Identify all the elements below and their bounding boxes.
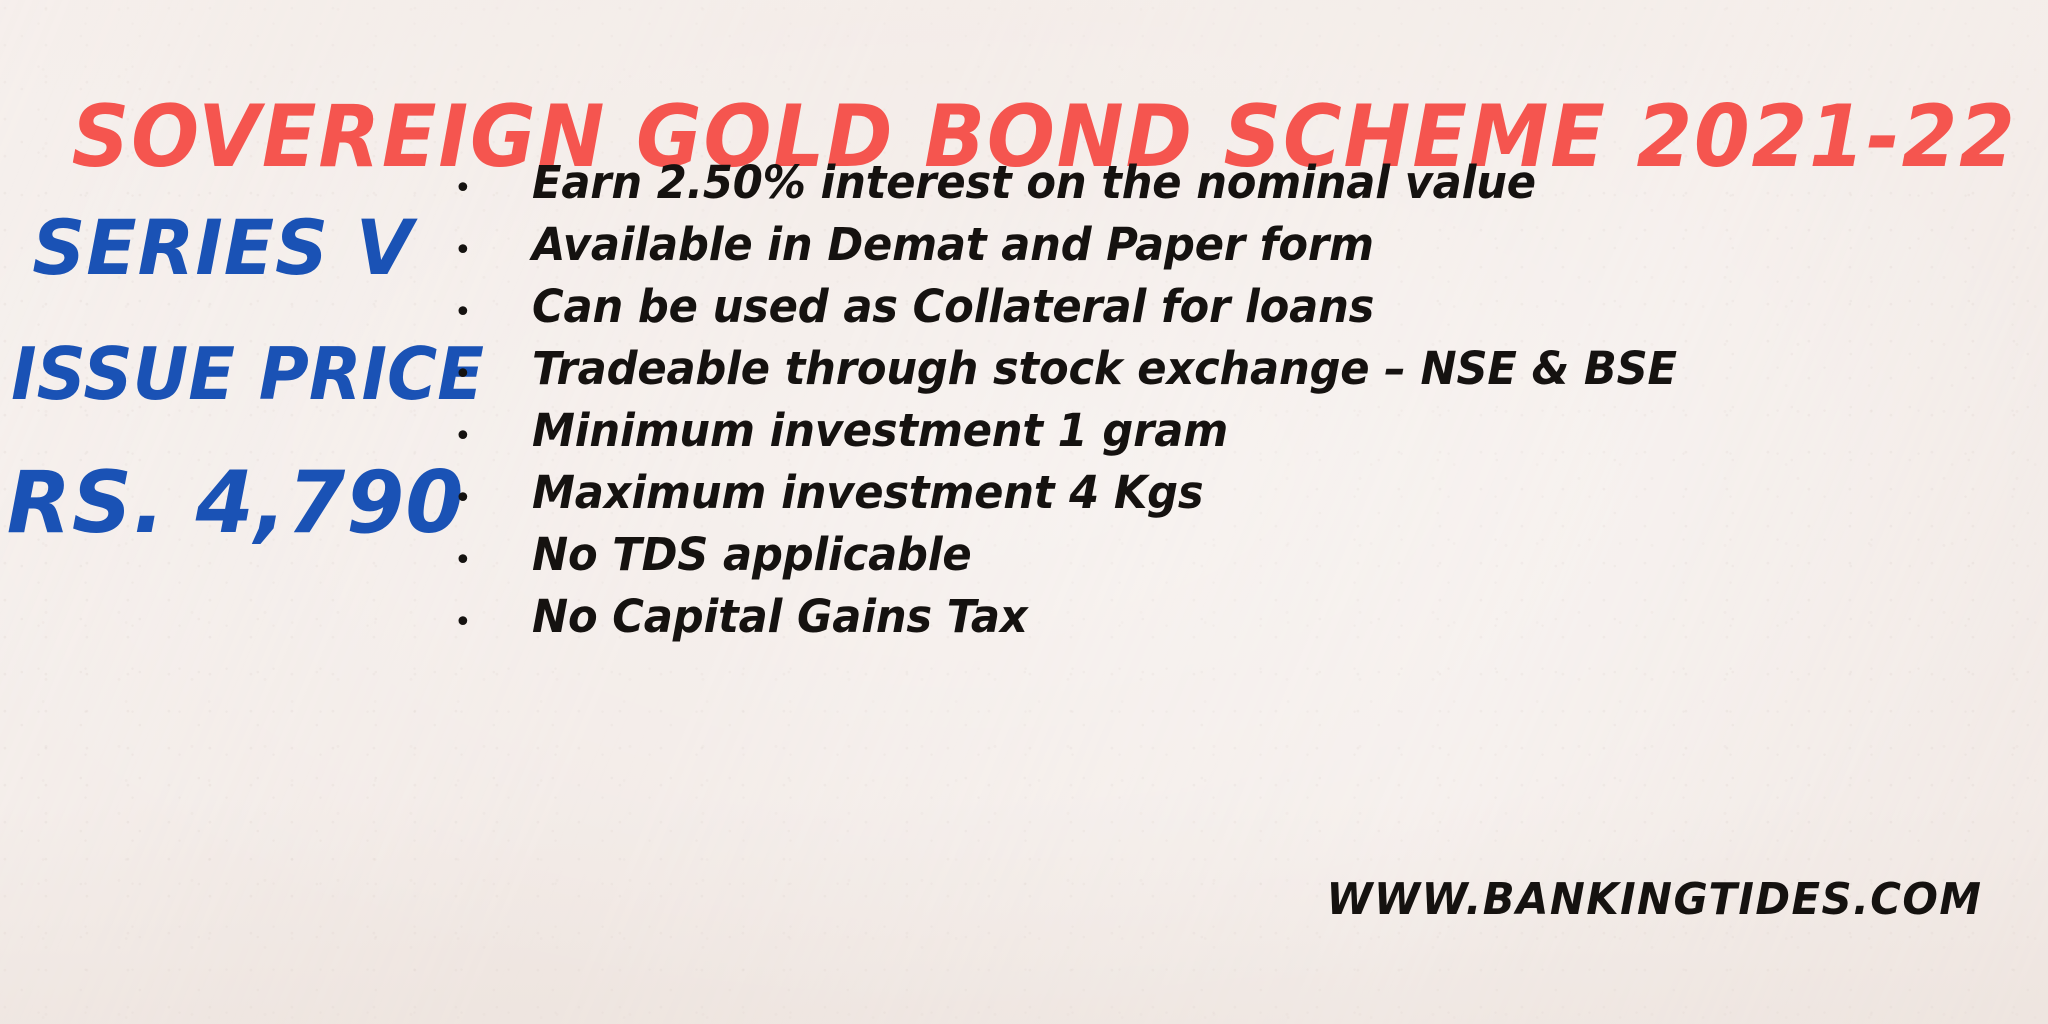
list-item: •Minimum investment 1 gram xyxy=(440,408,2040,470)
benefit-text: No TDS applicable xyxy=(532,532,1980,577)
bullet-dot-icon: • xyxy=(440,298,532,328)
bullet-dot-icon: • xyxy=(440,484,532,514)
bullet-dot-icon: • xyxy=(440,546,532,576)
issue-price-label: ISSUE PRICE xyxy=(11,338,435,410)
list-item: •Earn 2.50% interest on the nominal valu… xyxy=(440,160,2040,222)
list-item: •No TDS applicable xyxy=(440,532,2040,594)
bullet-dot-icon: • xyxy=(440,360,532,390)
list-item: •Tradeable through stock exchange – NSE … xyxy=(440,346,2040,408)
bullet-dot-icon: • xyxy=(440,422,532,452)
list-item: •No Capital Gains Tax xyxy=(440,594,2040,656)
benefits-list: •Earn 2.50% interest on the nominal valu… xyxy=(440,160,2040,656)
issue-summary-block: SERIES V ISSUE PRICE RS. 4,790 xyxy=(0,210,446,546)
list-item: •Available in Demat and Paper form xyxy=(440,222,2040,284)
benefit-text: Maximum investment 4 Kgs xyxy=(532,470,1980,515)
issue-price-value: RS. 4,790 xyxy=(7,460,440,546)
benefit-text: Earn 2.50% interest on the nominal value xyxy=(532,160,1980,205)
benefit-text: Can be used as Collateral for loans xyxy=(532,284,1980,329)
site-url: WWW.BANKINGTIDES.COM xyxy=(1326,878,1982,922)
bullet-dot-icon: • xyxy=(440,174,532,204)
sovereign-gold-bond-poster: SOVEREIGN GOLD BOND SCHEME 2021-22 SERIE… xyxy=(0,0,2048,1024)
list-item: •Can be used as Collateral for loans xyxy=(440,284,2040,346)
benefit-text: Minimum investment 1 gram xyxy=(532,408,1980,453)
bullet-dot-icon: • xyxy=(440,236,532,266)
benefit-text: Available in Demat and Paper form xyxy=(532,222,1980,267)
benefit-text: No Capital Gains Tax xyxy=(532,594,1980,639)
series-label: SERIES V xyxy=(7,210,440,286)
benefit-text: Tradeable through stock exchange – NSE &… xyxy=(532,346,1980,391)
bullet-dot-icon: • xyxy=(440,608,532,638)
list-item: •Maximum investment 4 Kgs xyxy=(440,470,2040,532)
